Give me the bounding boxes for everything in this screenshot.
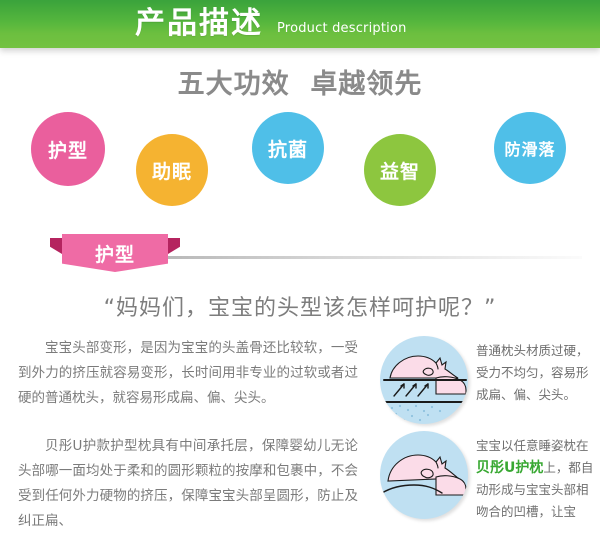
section-ribbon: 护型 xyxy=(62,234,168,272)
ribbon-fold-right-icon xyxy=(168,238,180,254)
caption-text-before: 宝宝以任意睡姿枕在 xyxy=(476,438,589,453)
illustration-block-u-pillow: 宝宝以任意睡姿枕在贝彤U护枕上，都自动形成与宝宝头部相吻合的凹槽，让宝 xyxy=(372,427,600,522)
feature-circle-hu-xing[interactable]: 护型 xyxy=(31,112,105,186)
page-header-banner: 产品描述 Product description xyxy=(0,0,600,48)
page-title: 五大功效 卓越领先 xyxy=(0,62,600,101)
baby-on-u-pillow-icon xyxy=(380,431,468,519)
illustration-caption-u-pillow: 宝宝以任意睡姿枕在贝彤U护枕上，都自动形成与宝宝头部相吻合的凹槽，让宝 xyxy=(476,435,600,523)
baby-on-hard-pillow-icon xyxy=(380,336,468,424)
body-paragraph-1: 宝宝头部变形，是因为宝宝的头盖骨还比较软，一受到外力的挤压就容易变形，长时间用非… xyxy=(18,336,358,411)
ribbon-fold-left-icon xyxy=(50,238,62,254)
feature-circle-label: 护型 xyxy=(48,136,88,163)
feature-circle-label: 益智 xyxy=(380,157,420,184)
section-ribbon-label: 护型 xyxy=(95,240,135,267)
banner-content: 产品描述 Product description xyxy=(0,0,600,48)
illustration-caption-hard-pillow: 普通枕头材质过硬，受力不均匀，容易形成扁、偏、尖头。 xyxy=(476,340,600,406)
feature-circle-zhu-mian[interactable]: 助眠 xyxy=(136,134,208,206)
illustration-block-hard-pillow: 普通枕头材质过硬，受力不均匀，容易形成扁、偏、尖头。 xyxy=(372,332,600,427)
feature-circle-label: 助眠 xyxy=(152,157,192,184)
banner-title-cn: 产品描述 xyxy=(135,9,263,39)
section-divider-line xyxy=(168,256,582,259)
feature-circle-label: 抗菌 xyxy=(268,135,308,162)
section-ribbon-row: 护型 xyxy=(0,234,600,280)
feature-circle-kang-jun[interactable]: 抗菌 xyxy=(252,112,324,184)
section-quote: “妈妈们，宝宝的头型该怎样呵护呢？” xyxy=(0,290,600,322)
feature-circle-group: 护型 助眠 抗菌 益智 防滑落 xyxy=(0,108,600,210)
feature-circle-fang-hua-luo[interactable]: 防滑落 xyxy=(494,112,566,184)
feature-circle-label: 防滑落 xyxy=(504,136,555,160)
brand-name-text: 贝彤U护枕 xyxy=(476,460,543,476)
illustration-column: 普通枕头材质过硬，受力不均匀，容易形成扁、偏、尖头。 宝宝以任意睡姿枕在贝彤U护… xyxy=(372,332,600,522)
feature-circle-yi-zhi[interactable]: 益智 xyxy=(364,134,436,206)
banner-title-en: Product description xyxy=(277,21,407,36)
body-paragraph-2: 贝彤U护款护型枕具有中间承托层，保障婴幼儿无论头部哪一面均处于柔和的圆形颗粒的按… xyxy=(18,434,358,534)
body-text-column: 宝宝头部变形，是因为宝宝的头盖骨还比较软，一受到外力的挤压就容易变形，长时间用非… xyxy=(18,336,358,534)
